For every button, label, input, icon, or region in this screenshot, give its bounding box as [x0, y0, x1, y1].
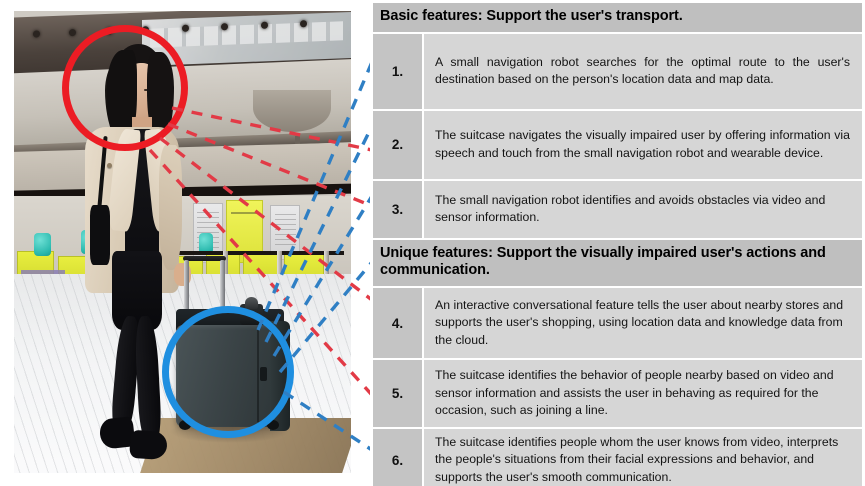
unique-feature-rows: 4. An interactive conversational feature…: [373, 286, 862, 486]
row-text: The suitcase navigates the visually impa…: [424, 111, 862, 179]
suitcase-handle-bar-right: [220, 260, 225, 311]
row-number: 5.: [373, 360, 424, 427]
row-text: The small navigation robot identifies an…: [424, 181, 862, 238]
row-text: The suitcase identifies people whom the …: [424, 429, 862, 486]
feature-table: Basic features: Support the user's trans…: [373, 3, 862, 484]
shoulder-bag: [90, 205, 110, 265]
row-text: An interactive conversational feature te…: [424, 288, 862, 358]
skirt: [112, 251, 163, 330]
row-number: 1.: [373, 34, 424, 109]
table-row[interactable]: 1. A small navigation robot searches for…: [373, 34, 862, 111]
row-text: The suitcase identifies the behavior of …: [424, 360, 862, 427]
row-number: 2.: [373, 111, 424, 179]
red-highlight-circle: [62, 25, 188, 151]
row-number: 6.: [373, 429, 424, 486]
table-row[interactable]: 2. The suitcase navigates the visually i…: [373, 111, 862, 181]
blue-highlight-circle: [162, 306, 294, 438]
row-number: 3.: [373, 181, 424, 238]
slide-root: Basic features: Support the user's trans…: [0, 0, 865, 486]
row-text: A small navigation robot searches for th…: [424, 34, 862, 109]
table-row[interactable]: 3. The small navigation robot identifies…: [373, 181, 862, 238]
row-number: 4.: [373, 288, 424, 358]
right-arm: [159, 145, 183, 270]
right-leg: [134, 315, 162, 441]
sensor-dome-icon: [245, 297, 258, 309]
section-header-basic-features: Basic features: Support the user's trans…: [373, 3, 862, 32]
section-header-unique-features: Unique features: Support the visually im…: [373, 240, 862, 286]
table-row[interactable]: 5. The suitcase identifies the behavior …: [373, 360, 862, 429]
table-row[interactable]: 4. An interactive conversational feature…: [373, 288, 862, 360]
photo-panel: [0, 0, 370, 486]
suitcase-handle-bar-left: [184, 260, 189, 311]
right-boot: [129, 430, 168, 460]
basic-feature-rows: 1. A small navigation robot searches for…: [373, 32, 862, 238]
table-row[interactable]: 6. The suitcase identifies people whom t…: [373, 429, 862, 486]
